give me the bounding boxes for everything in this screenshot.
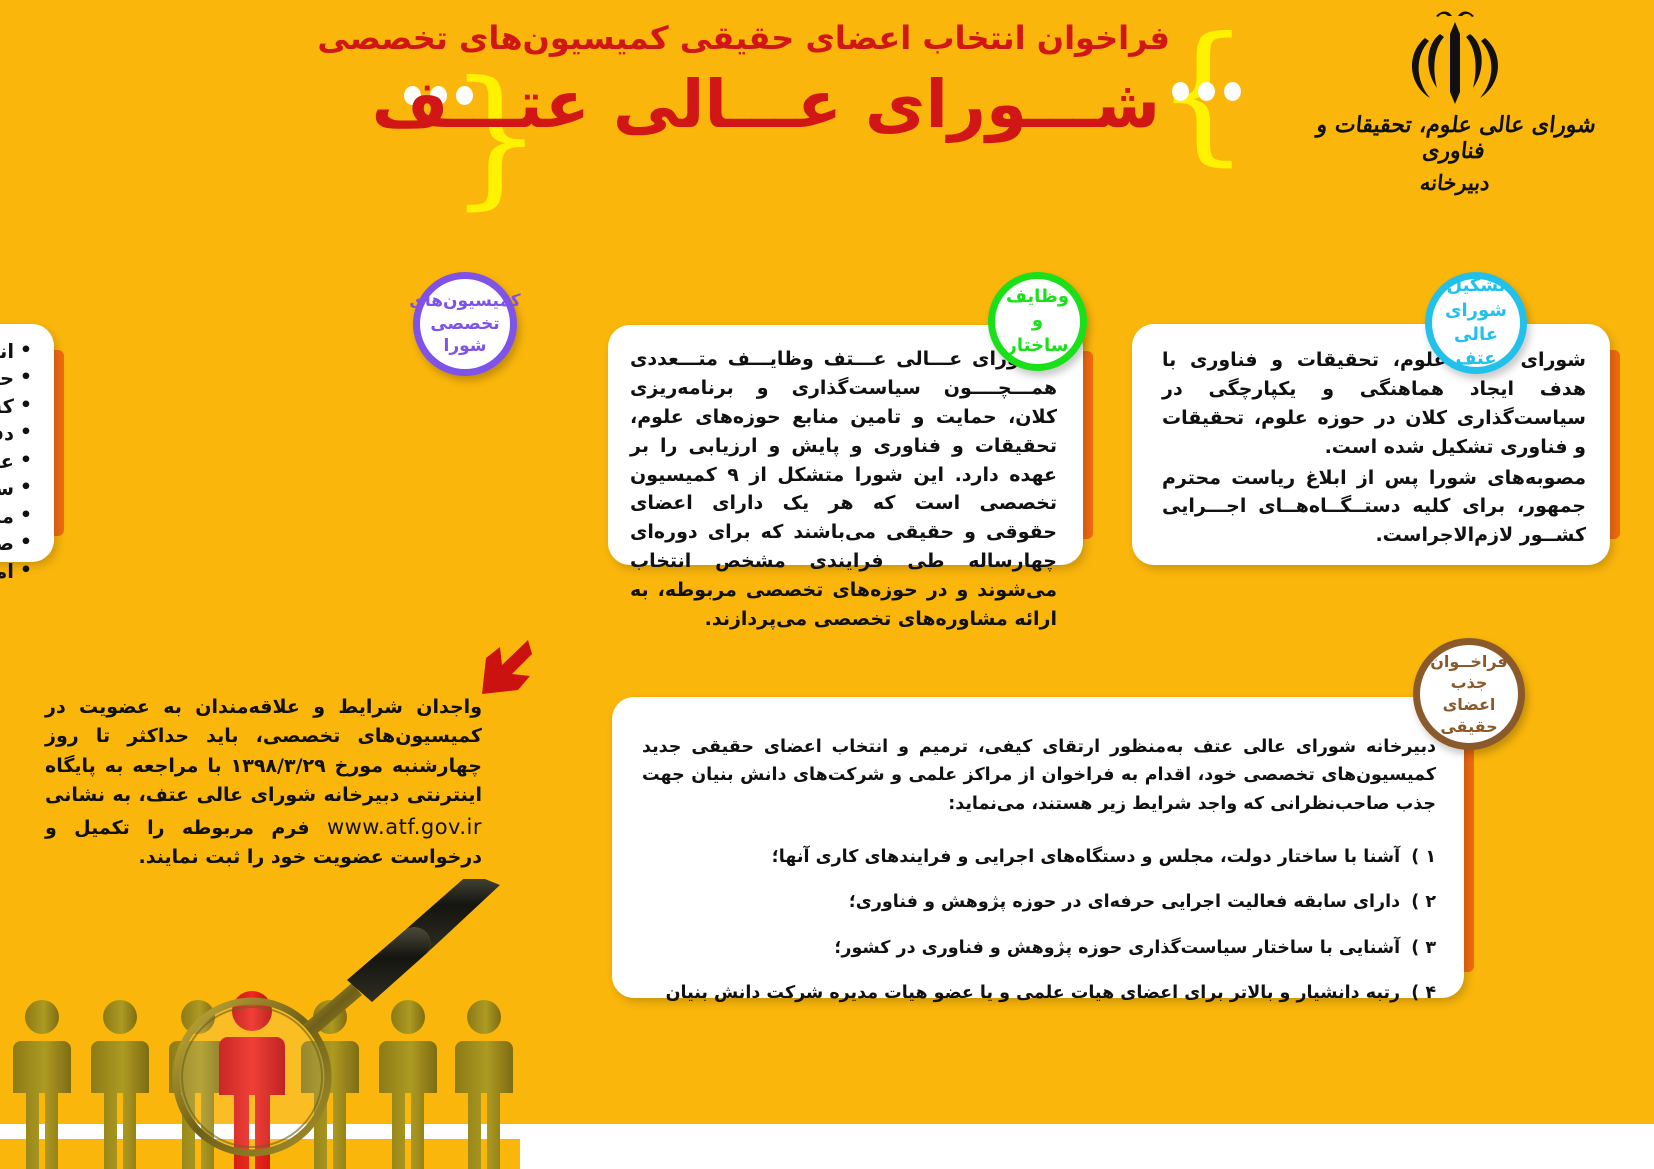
organization-logo: شورای عالی علوم، تحقیقات و فناوری دبیرخا… (1290, 8, 1620, 195)
card-formation: شورای عالی علوم، تحقیقات و فناوری با هدف… (1132, 324, 1610, 565)
condition-number: ۲ ) (1411, 892, 1436, 912)
condition-text: رتبه دانشیار و بالاتر برای اعضای هیات عل… (666, 983, 1401, 1003)
title-block: فراخوان انتخاب اعضای حقیقی کمیسیون‌های ت… (400, 18, 1200, 147)
badge-call-for-members: فراخــوان جذب اعضای حقیقی (1413, 638, 1525, 750)
iran-national-emblem-icon (1396, 8, 1514, 108)
magnifier-over-crowd-illustration (0, 879, 520, 1169)
notice-part-1: واجدان شرایط و علاقه‌مندان به عضویت در ک… (45, 696, 482, 806)
condition-text: دارای سابقه فعالیت اجرایی حرفه‌ای در حوز… (849, 892, 1400, 912)
commissions-list: انرژی حمل‌ونقل و عمران کشاورزی، آب و منا… (0, 324, 54, 595)
condition-number: ۱ ) (1411, 847, 1436, 867)
condition-number: ۴ ) (1411, 983, 1436, 1003)
formation-text: شورای عالی علوم، تحقیقات و فناوری با هدف… (1132, 324, 1610, 566)
badge-duties: وظایف و ساختار (988, 272, 1087, 371)
poster-title: شـــورای عـــالی عتـــف (400, 64, 1200, 147)
list-item: کشاورزی، آب و منابع طبیعی (0, 393, 32, 420)
card-call-for-members: دبیرخانه شورای عالی عتف به‌منظور ارتقای … (612, 697, 1464, 998)
list-item: ۲ ) دارای سابقه فعالیت اجرایی حرفه‌ای در… (642, 889, 1436, 915)
call-conditions-list: ۱ ) آشنا با ساختار دولت، مجلس و دستگاه‌ه… (612, 844, 1464, 1006)
notice-text: واجدان شرایط و علاقه‌مندان به عضویت در ک… (45, 693, 482, 873)
card-commissions: انرژی حمل‌ونقل و عمران کشاورزی، آب و منا… (0, 324, 54, 562)
website-url[interactable]: www.atf.gov.ir (327, 811, 482, 844)
list-item: علوم پایه و فناوری‌های همگرا (0, 448, 32, 475)
condition-number: ۳ ) (1411, 938, 1436, 958)
condition-text: آشنایی با ساختار سیاست‌گذاری حوزه پژوهش … (834, 938, 1400, 958)
list-item: مدیریت، اقتصاد، بازرگانی و امور حقوقی (0, 503, 32, 530)
list-item: ۱ ) آشنا با ساختار دولت، مجلس و دستگاه‌ه… (642, 844, 1436, 870)
list-item: انرژی (0, 338, 32, 365)
list-item: ۳ ) آشنایی با ساختار سیاست‌گذاری حوزه پژ… (642, 935, 1436, 961)
logo-line-1: شورای عالی علوم، تحقیقات و فناوری (1287, 112, 1622, 164)
list-item: امور فرهنگی، اجتماعی و علوم انسانی و اسل… (0, 558, 32, 585)
arrow-down-left-icon (474, 636, 536, 698)
formation-paragraph-1: شورای عالی علوم، تحقیقات و فناوری با هدف… (1162, 346, 1586, 462)
condition-text: آشنا با ساختار دولت، مجلس و دستگاه‌های ا… (772, 847, 1400, 867)
badge-call-label: فراخــوان جذب اعضای حقیقی (1420, 651, 1518, 737)
poster-header: { { فراخوان انتخاب اعضای حقیقی کمیسیون‌ه… (0, 0, 1654, 215)
list-item: دفاع، امنیت و سیاست خارجی (0, 420, 32, 447)
list-item: حمل‌ونقل و عمران (0, 365, 32, 392)
list-item: سلامت، امنیت غذایی و رفاه اجتماعی (0, 475, 32, 502)
formation-paragraph-2: مصوبه‌های شورا پس از ابلاغ ریاست محترم ج… (1162, 464, 1586, 551)
logo-line-2: دبیرخانه (1289, 170, 1622, 195)
badge-duties-label: وظایف و ساختار (995, 285, 1080, 358)
list-item: ۴ ) رتبه دانشیار و بالاتر برای اعضای هیا… (642, 980, 1436, 1006)
badge-formation: تشکیل شورای عالی عتف (1425, 272, 1527, 374)
badge-commissions-label: کمیسیون‌های تخصصی شورا (403, 290, 526, 359)
list-item: صنایع، معادن و فناوری اطلاعات و ارتباطات (0, 530, 32, 557)
duties-paragraph: شـــورای عـــالی عـــتف وظایـــف متـــعد… (608, 325, 1083, 650)
badge-formation-label: تشکیل شورای عالی عتف (1432, 274, 1520, 371)
poster-subtitle: فراخوان انتخاب اعضای حقیقی کمیسیون‌های ت… (400, 18, 1200, 58)
badge-commissions: کمیسیون‌های تخصصی شورا (413, 272, 517, 376)
call-intro-paragraph: دبیرخانه شورای عالی عتف به‌منظور ارتقای … (612, 697, 1464, 818)
